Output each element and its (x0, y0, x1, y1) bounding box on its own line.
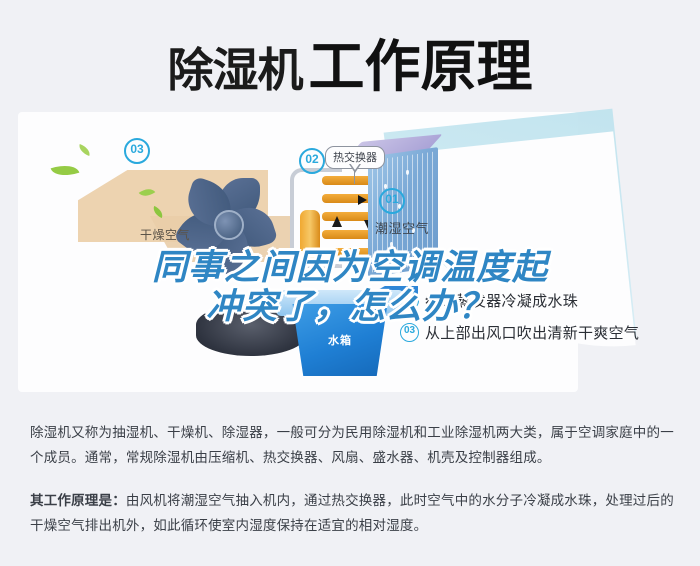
page-title: 除湿机工作原理 (0, 22, 700, 103)
step-badge-03: 03 (400, 323, 419, 342)
page-title-part1: 除湿机 (168, 44, 303, 96)
condensation-droplet (406, 170, 409, 175)
condensation-droplet (390, 242, 393, 247)
paragraph-2: 其工作原理是：由风机将潮湿空气抽入机内，通过热交换器，此时空气中的水分子冷凝成水… (30, 488, 675, 538)
step-list: 02 经过蒸发器冷凝成水珠 03 从上部出风口吹出清新干爽空气 (400, 290, 700, 354)
step-badge-02: 02 (400, 291, 419, 310)
flow-arrow-up-icon (332, 216, 342, 227)
step-text-02: 经过蒸发器冷凝成水珠 (425, 290, 578, 311)
marker-02: 02 (299, 148, 325, 174)
flow-arrow-right-icon (358, 195, 367, 205)
illustration-stage: 水箱 03 02 01 热交换器 干燥空气 潮湿空气 (0, 108, 700, 398)
water-tank-label: 水箱 (286, 332, 394, 348)
humid-air-label: 潮湿空气 (375, 218, 429, 237)
callout-pointer-icon (349, 164, 361, 173)
marker-03: 03 (124, 138, 150, 164)
body-copy: 除湿机又称为抽湿机、干燥机、除湿器，一般可分为民用除湿机和工业除湿机两大类，属于… (30, 420, 675, 556)
marker-01: 01 (379, 188, 405, 214)
heat-exchanger-fins (372, 152, 434, 273)
step-text-03: 从上部出风口吹出清新干爽空气 (425, 322, 639, 343)
list-item: 02 经过蒸发器冷凝成水珠 (400, 290, 700, 311)
dry-air-label: 干燥空气 (140, 226, 190, 243)
fan-hub (214, 210, 244, 240)
fan-icon (176, 170, 280, 274)
paragraph-2-rest: 由风机将潮湿空气抽入机内，通过热交换器，此时空气中的水分子冷凝成水珠，处理过后的… (30, 493, 674, 533)
page-root: 除湿机工作原理 (0, 0, 700, 566)
paragraph-2-lead: 其工作原理是： (30, 493, 126, 508)
page-title-part2: 工作原理 (309, 35, 533, 98)
list-item: 03 从上部出风口吹出清新干爽空气 (400, 322, 700, 343)
paragraph-1: 除湿机又称为抽湿机、干燥机、除湿器，一般可分为民用除湿机和工业除湿机两大类，属于… (30, 420, 675, 470)
compressor-cylinder (300, 210, 320, 258)
